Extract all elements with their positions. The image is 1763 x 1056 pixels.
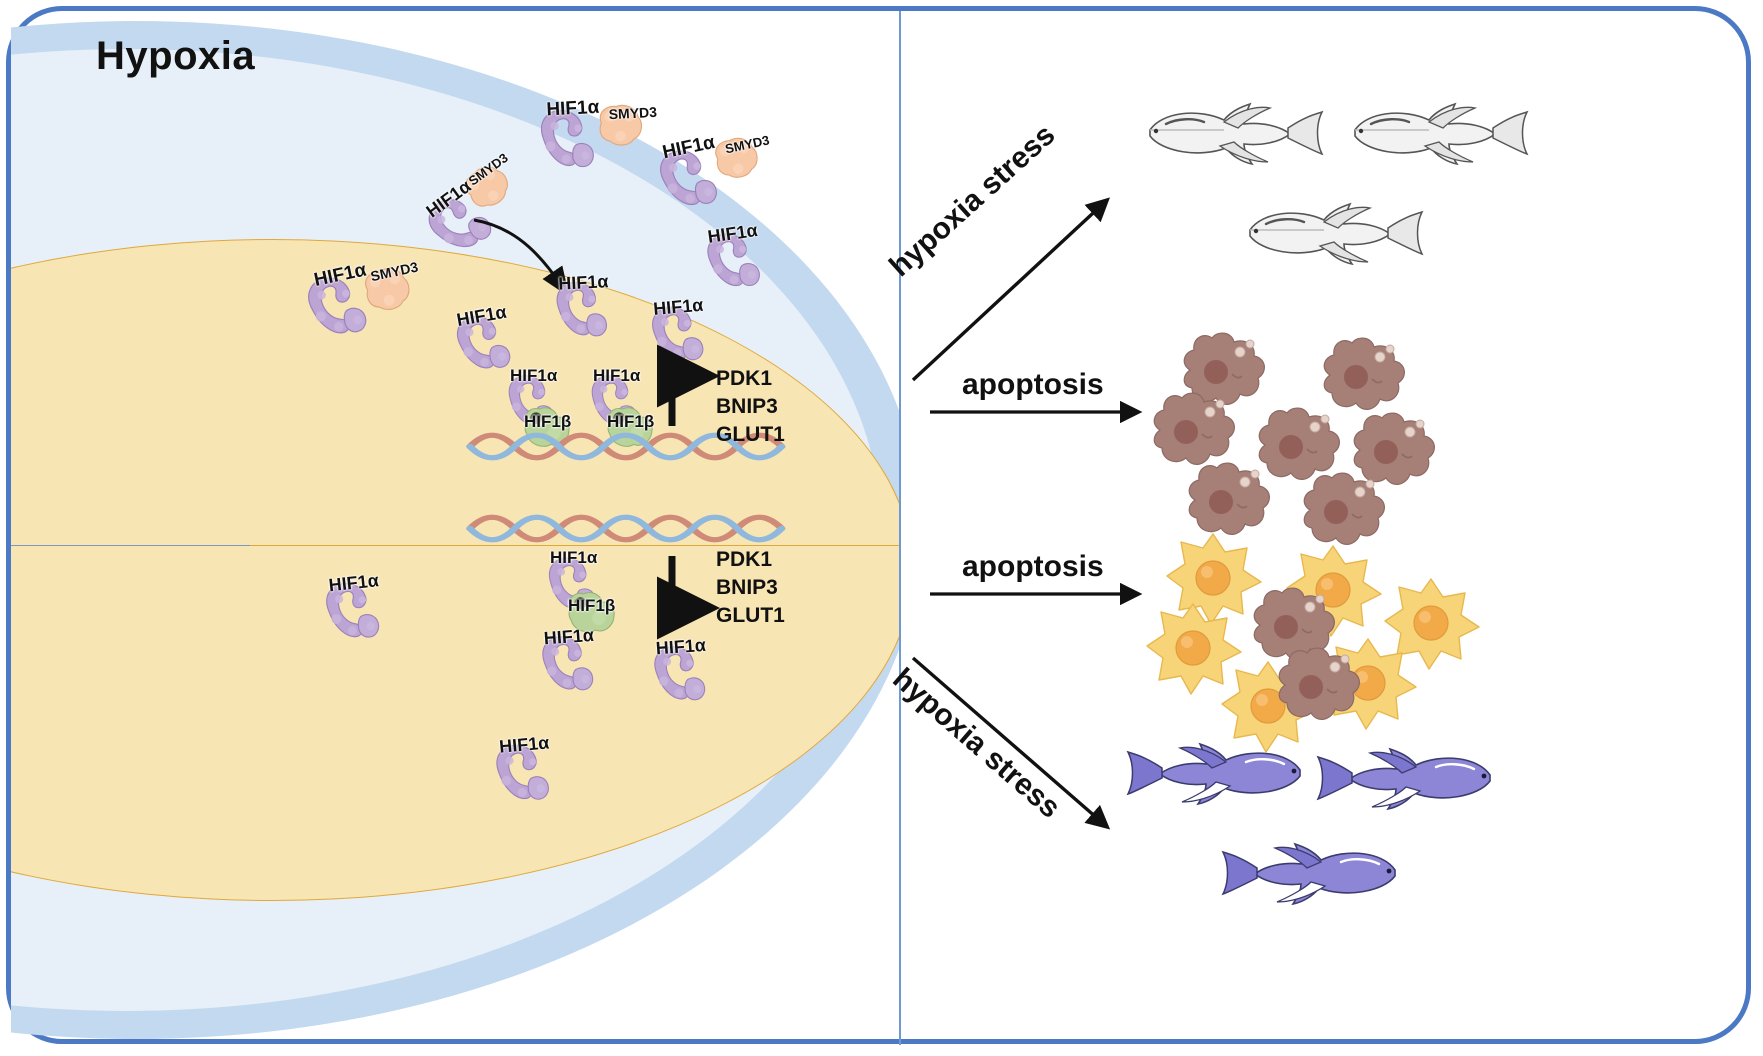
fish-icon — [1120, 100, 1330, 180]
fish-icon — [1215, 840, 1425, 920]
vertical-divider — [899, 11, 901, 1045]
gene-label: GLUT1 — [716, 421, 785, 449]
hif1a-label: HIF1α — [593, 366, 640, 386]
hif1a-label: HIF1α — [655, 635, 706, 659]
target-genes-bottom: PDK1 BNIP3 GLUT1 — [716, 546, 785, 630]
hif1a-label: HIF1α — [546, 97, 600, 122]
hif1a-label: HIF1α — [550, 548, 597, 568]
fish-icon — [1325, 100, 1535, 180]
gene-label: BNIP3 — [716, 574, 785, 602]
gene-label: PDK1 — [716, 546, 785, 574]
target-genes-top: PDK1 BNIP3 GLUT1 — [716, 365, 785, 449]
hif1a-label: HIF1α — [652, 295, 704, 320]
gene-label: GLUT1 — [716, 602, 785, 630]
hif1a-free: HIF1α — [531, 623, 627, 714]
fish-icon — [1120, 740, 1330, 820]
apoptotic-cell-icon — [1265, 645, 1375, 740]
page-title: Hypoxia — [96, 34, 255, 79]
hif1a-label: HIF1α — [510, 366, 557, 386]
hif1a-free: HIF1α — [546, 270, 640, 360]
hif1a-free: HIF1α — [484, 730, 581, 823]
fish-icon — [1220, 200, 1430, 280]
outcome-arrow-hypoxia-down — [905, 640, 1135, 840]
hif1b-label: HIF1β — [568, 596, 615, 616]
outcome-label-apoptosis-top: apoptosis — [962, 368, 1104, 402]
gene-label: PDK1 — [716, 365, 785, 393]
hif1a-free: HIF1α — [643, 633, 739, 724]
hif1a-label: HIF1α — [558, 271, 609, 295]
hif1b-label: HIF1β — [524, 412, 571, 432]
outcome-label-apoptosis-bottom: apoptosis — [962, 550, 1104, 584]
figure-canvas: Hypoxia — [0, 0, 1763, 1056]
fish-icon — [1310, 745, 1520, 825]
hif1a-free: HIF1α — [314, 568, 412, 662]
hif1a-label: HIF1α — [498, 732, 550, 757]
smyd3-label: SMYD3 — [608, 104, 657, 123]
hif1a-label: HIF1α — [543, 625, 594, 649]
outcome-arrow-apoptosis-bottom — [930, 582, 1160, 612]
outcome-arrow-apoptosis-top — [930, 400, 1160, 430]
gene-label: BNIP3 — [716, 393, 785, 421]
hif1b-label: HIF1β — [607, 412, 654, 432]
